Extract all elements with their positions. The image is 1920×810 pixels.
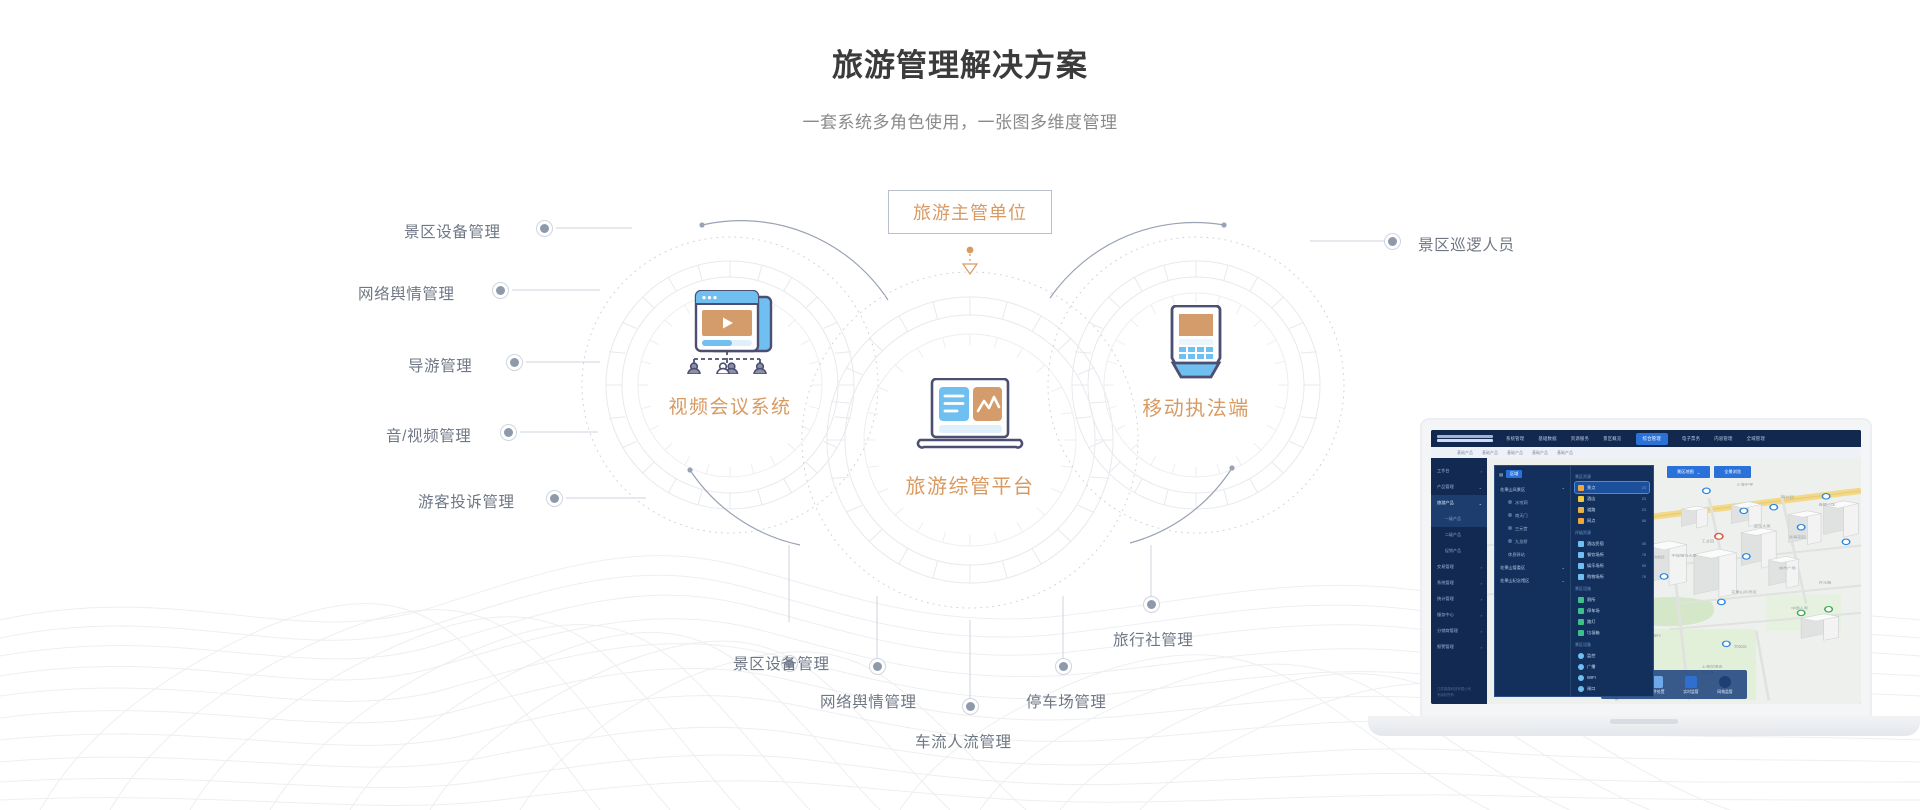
dashboard-tab-1[interactable]: 基础产品 (1482, 450, 1498, 456)
dashboard-main-area: 小海中学 南北园 春辉小区 蓝宝大厦 滨海花园 工业园 东风路科技园 中信银行大… (1487, 458, 1861, 704)
dashboard-tab-2[interactable]: 基础产品 (1507, 450, 1523, 456)
resource-item-1-1[interactable]: 餐饮场所 78 (1575, 549, 1649, 560)
sidebar-item-3[interactable]: 一级产品 (1431, 511, 1487, 527)
sidebar-item-2[interactable]: 旅游产品 ⌄ (1431, 495, 1487, 511)
svg-text:蓝宝大厦: 蓝宝大厦 (1754, 524, 1771, 528)
svg-text:小海中学: 小海中学 (1736, 482, 1753, 486)
grid-monitor-icon (1719, 676, 1731, 688)
resource-item-2-1[interactable]: 停车场 (1575, 605, 1649, 616)
authority-box[interactable]: 旅游主管单位 (888, 190, 1052, 234)
map-dock-item-3-label: 网格监管 (1717, 690, 1732, 694)
dashboard-sidebar[interactable]: 工作台 › 产品管理 ⌄ 旅游产品 ⌄ (1431, 458, 1487, 704)
resource-item-3-1[interactable]: 广播 (1575, 661, 1649, 672)
bullet-icon (1508, 526, 1512, 530)
region-tree-row-5-label: 休息驿站 (1508, 552, 1525, 558)
resource-item-1-2-label: 娱乐场所 (1587, 563, 1604, 569)
left-circle-rings (582, 221, 888, 545)
svg-text:工业园: 工业园 (1701, 538, 1714, 542)
sidebar-item-10[interactable]: 分销商管理 › (1431, 623, 1487, 639)
trash-bin-icon (1578, 630, 1584, 636)
resource-item-1-0-count: 45 (1642, 542, 1646, 546)
realtime-monitor-icon (1685, 676, 1697, 688)
svg-text:上海世博会: 上海世博会 (1701, 664, 1722, 668)
dashboard-tab-row[interactable]: 基础产品 基础产品 基础产品 基础产品 基础产品 (1431, 447, 1861, 458)
resource-item-1-1-count: 78 (1642, 553, 1646, 557)
map-view-chips[interactable]: 景区地图 ⌄ 全景浏览 (1667, 466, 1751, 478)
region-tree-row-1-label: 水帘洞 (1515, 500, 1528, 505)
sidebar-item-6[interactable]: 交易管理 › (1431, 559, 1487, 575)
region-tree-row-2[interactable]: 南天门 (1499, 509, 1566, 522)
chevron-right-icon: › (1481, 565, 1482, 570)
chevron-right-icon: › (1481, 629, 1482, 634)
spoke-dot-bottom-5[interactable] (1143, 596, 1160, 613)
sidebar-item-9[interactable]: 服务中心 › (1431, 607, 1487, 623)
chevron-right-icon: › (1481, 613, 1482, 618)
resource-panel: ▤ 区域 花果山风景区 ⌃ 水帘洞 (1494, 465, 1654, 697)
svg-text:开元路: 开元路 (1819, 580, 1832, 584)
spoke-label-bottom-1[interactable]: 景区设备管理 (733, 652, 830, 674)
resource-item-3-0[interactable]: 监控 (1575, 650, 1649, 661)
authority-label: 旅游主管单位 (913, 199, 1027, 225)
spoke-label-left-1[interactable]: 景区设备管理 (404, 220, 501, 242)
region-tree-row-5[interactable]: 休息驿站 (1499, 548, 1566, 561)
resource-item-0-3-count: 56 (1642, 519, 1646, 523)
resource-list[interactable]: 景区资源 景点 23 酒店 23 (1571, 466, 1653, 696)
scenic-spot-icon (1578, 485, 1584, 491)
region-tree-row-1[interactable]: 水帘洞 (1499, 496, 1566, 509)
bullet-icon (1508, 500, 1512, 504)
left-leader-lines (512, 228, 646, 498)
resource-item-0-3[interactable]: 网点 56 (1575, 515, 1649, 526)
region-tree-row-0-label: 花果山风景区 (1500, 487, 1525, 493)
authority-connector (963, 247, 977, 274)
network-node-icon (1578, 518, 1584, 524)
resource-item-2-1-label: 停车场 (1587, 608, 1600, 614)
chevron-down-icon[interactable]: ⌄ (1561, 565, 1565, 570)
dashboard-tab-4[interactable]: 基础产品 (1557, 450, 1573, 456)
dashboard-top-menu[interactable]: 系统管理 基础数据 资源服务 景区概览 综合管理 电子票务 内容管理 全域管理 (1506, 433, 1765, 445)
resource-item-1-3-count: 76 (1642, 575, 1646, 579)
hotel-icon (1578, 496, 1584, 502)
sidebar-item-0[interactable]: 工作台 › (1431, 463, 1487, 479)
top-menu-item-5[interactable]: 电子票务 (1682, 436, 1700, 442)
svg-text:滨海花园: 滨海花园 (1789, 535, 1806, 539)
chevron-down-icon: ⌄ (1697, 470, 1701, 475)
dashboard-topbar: 系统管理 基础数据 资源服务 景区概览 综合管理 电子票务 内容管理 全域管理 (1431, 430, 1861, 447)
laptop-mockup: 系统管理 基础数据 资源服务 景区概览 综合管理 电子票务 内容管理 全域管理 … (1368, 410, 1920, 810)
resource-group-2-title: 景区设施 (1575, 586, 1649, 592)
entertainment-icon (1578, 563, 1584, 569)
spoke-dot-bottom-4[interactable] (1055, 658, 1072, 675)
spoke-label-bottom-5[interactable]: 旅行社管理 (1113, 628, 1194, 650)
spoke-dot-right-1[interactable] (1384, 233, 1401, 250)
region-tree-row-7-label: 花果山纪念馆区 (1500, 578, 1529, 584)
road-icon (1578, 507, 1584, 513)
resource-item-3-2-label: WIFI (1587, 675, 1596, 680)
sidebar-item-3-label: 一级产品 (1445, 516, 1461, 522)
spoke-dot-left-3[interactable] (506, 354, 523, 371)
region-tree-row-4[interactable]: 九龙桥 (1499, 535, 1566, 548)
sidebar-item-8-label: 统计管理 (1437, 596, 1454, 602)
bullet-icon (1508, 513, 1512, 517)
dashboard-body: 工作台 › 产品管理 ⌄ 旅游产品 ⌄ (1431, 458, 1861, 704)
spoke-label-bottom-2[interactable]: 网络舆情管理 (820, 690, 917, 712)
chevron-right-icon: › (1481, 597, 1482, 602)
resource-item-0-1-label: 酒店 (1587, 496, 1595, 502)
region-tree-row-3-label: 三元宫 (1515, 526, 1528, 531)
svg-text:景区园: 景区园 (1734, 644, 1747, 648)
resource-item-3-0-label: 监控 (1587, 653, 1595, 659)
resource-item-3-3-label: 闸口 (1587, 686, 1595, 692)
resource-item-1-0-label: 酒店民宿 (1587, 541, 1604, 547)
region-tree-row-0[interactable]: 花果山风景区 ⌃ (1499, 483, 1566, 496)
map-dock-item-3[interactable]: 网格监管 (1713, 676, 1737, 695)
map-dock-item-2-label: 实时监管 (1683, 690, 1698, 694)
handheld-device-icon (1166, 305, 1226, 383)
spoke-dot-left-1[interactable] (536, 220, 553, 237)
svg-text:中国人寿: 中国人寿 (1791, 606, 1808, 610)
top-menu-item-3[interactable]: 景区概览 (1603, 436, 1621, 442)
sidebar-item-10-label: 分销商管理 (1437, 628, 1458, 634)
sidebar-item-7[interactable]: 系统管理 › (1431, 575, 1487, 591)
region-tree-row-2-label: 南天门 (1515, 513, 1528, 518)
laptop-base (1368, 716, 1920, 736)
top-menu-item-0[interactable]: 系统管理 (1506, 436, 1524, 442)
chevron-right-icon: › (1481, 581, 1482, 586)
laptop-screen: 系统管理 基础数据 资源服务 景区概览 综合管理 电子票务 内容管理 全域管理 … (1431, 430, 1861, 704)
sidebar-footer: 江苏鼎鼎科技有限公司 专版权所有 (1431, 683, 1487, 704)
resource-item-0-0-count: 23 (1642, 486, 1646, 490)
resource-item-1-3-label: 购物场所 (1587, 574, 1604, 580)
top-menu-item-1[interactable]: 基础数据 (1538, 436, 1556, 442)
spoke-dot-left-5[interactable] (546, 490, 563, 507)
mobile-enforcement-label: 移动执法端 (1106, 392, 1286, 421)
sidebar-footer-line-2: 专版权所有 (1437, 693, 1481, 699)
spoke-label-left-5[interactable]: 游客投诉管理 (418, 490, 515, 512)
resource-item-3-3[interactable]: 闸口 (1575, 683, 1649, 694)
resource-group-0-title: 景区资源 (1575, 474, 1649, 480)
map-chip-0[interactable]: 景区地图 ⌄ (1667, 466, 1710, 478)
resource-item-2-3[interactable]: 垃圾箱 (1575, 627, 1649, 638)
sidebar-item-11[interactable]: 报警管理 › (1431, 639, 1487, 655)
sidebar-item-4[interactable]: 二级产品 (1431, 527, 1487, 543)
sidebar-item-11-label: 报警管理 (1437, 644, 1454, 650)
spoke-label-right-1[interactable]: 景区巡逻人员 (1418, 233, 1515, 255)
resource-item-0-2-label: 道路 (1587, 507, 1595, 513)
sidebar-item-4-label: 二级产品 (1445, 532, 1461, 538)
map-chip-0-label: 景区地图 (1677, 469, 1694, 475)
resource-item-0-1[interactable]: 酒店 23 (1575, 493, 1649, 504)
resource-group-1-title: 评级资源 (1575, 530, 1649, 536)
spoke-label-left-2[interactable]: 网络舆情管理 (358, 282, 455, 304)
chevron-right-icon: › (1481, 469, 1482, 474)
chevron-right-icon: › (1481, 645, 1482, 650)
spoke-label-bottom-3[interactable]: 车流人流管理 (915, 730, 1012, 752)
resource-group-3-title: 景区设备 (1575, 642, 1649, 648)
spoke-dot-left-2[interactable] (492, 282, 509, 299)
solution-infographic-page: 旅游管理解决方案 一套系统多角色使用，一张图多维度管理 (0, 0, 1920, 810)
dashboard-tab-3[interactable]: 基础产品 (1532, 450, 1548, 456)
laptop-screen-bezel: 系统管理 基础数据 资源服务 景区概览 综合管理 电子票务 内容管理 全域管理 … (1420, 418, 1872, 718)
spoke-dot-bottom-2[interactable] (869, 658, 886, 675)
region-tree-row-6-label: 花果山管委区 (1500, 565, 1525, 571)
top-menu-item-7[interactable]: 全域管理 (1747, 436, 1765, 442)
region-tree-row-7[interactable]: 花果山纪念馆区 ⌄ (1499, 574, 1566, 587)
region-tree-row-6[interactable]: 花果山管委区 ⌄ (1499, 561, 1566, 574)
tourism-platform-label: 旅游综管平台 (855, 470, 1085, 499)
resource-item-2-2-label: 路灯 (1587, 619, 1595, 625)
dashboard-tab-0[interactable]: 基础产品 (1457, 450, 1473, 456)
grid-icon: ▤ (1499, 472, 1503, 477)
resource-item-0-2[interactable]: 道路 23 (1575, 504, 1649, 515)
region-tree-header: ▤ 区域 (1499, 470, 1566, 478)
shopping-icon (1578, 574, 1584, 580)
sidebar-item-0-label: 工作台 (1437, 468, 1450, 474)
parking-icon (1578, 608, 1584, 614)
chevron-up-icon[interactable]: ⌃ (1561, 487, 1565, 492)
resource-item-1-2[interactable]: 娱乐场所 95 (1575, 560, 1649, 571)
sidebar-item-2-label: 旅游产品 (1437, 500, 1454, 506)
sidebar-item-7-label: 系统管理 (1437, 580, 1454, 586)
resource-item-3-2[interactable]: WIFI (1575, 672, 1649, 683)
sidebar-item-1-label: 产品管理 (1437, 484, 1454, 490)
map-chip-1[interactable]: 全景浏览 (1714, 466, 1751, 478)
resource-item-2-0[interactable]: 厕所 (1575, 594, 1649, 605)
resource-item-0-1-count: 23 (1642, 497, 1646, 501)
resource-item-0-3-label: 网点 (1587, 518, 1595, 524)
chevron-down-icon[interactable]: ⌄ (1561, 578, 1565, 583)
spoke-dot-bottom-3[interactable] (962, 698, 979, 715)
resource-item-0-0[interactable]: 景点 23 (1575, 482, 1649, 493)
restaurant-icon (1578, 552, 1584, 558)
spoke-dot-left-4[interactable] (500, 424, 517, 441)
resource-item-1-1-label: 餐饮场所 (1587, 552, 1604, 558)
gate-icon (1578, 686, 1584, 692)
camera-icon (1578, 653, 1584, 659)
resource-item-0-0-label: 景点 (1587, 485, 1595, 491)
sidebar-item-6-label: 交易管理 (1437, 564, 1454, 570)
hotel-homestay-icon (1578, 541, 1584, 547)
top-menu-item-2[interactable]: 资源服务 (1571, 436, 1589, 442)
video-window-icon (683, 290, 777, 374)
resource-item-2-3-label: 垃圾箱 (1587, 630, 1600, 636)
region-tree-row-3[interactable]: 三元宫 (1499, 522, 1566, 535)
dashboard-mock: 系统管理 基础数据 资源服务 景区概览 综合管理 电子票务 内容管理 全域管理 … (1431, 430, 1861, 704)
resource-item-1-0[interactable]: 酒店民宿 45 (1575, 538, 1649, 549)
svg-text:花果山风景区: 花果山风景区 (1731, 590, 1757, 594)
sidebar-item-5[interactable]: 促销产品 (1431, 543, 1487, 559)
svg-text:中信银行大厦: 中信银行大厦 (1672, 553, 1698, 557)
sidebar-item-5-label: 促销产品 (1445, 548, 1461, 554)
spoke-label-left-3[interactable]: 导游管理 (408, 354, 472, 376)
chevron-down-icon: ⌄ (1479, 485, 1482, 490)
speaker-icon (1578, 664, 1584, 670)
svg-text:南北园: 南北园 (1781, 495, 1794, 499)
toilet-icon (1578, 597, 1584, 603)
wifi-icon (1578, 675, 1584, 681)
map-dock-item-2[interactable]: 实时监管 (1679, 676, 1703, 695)
spoke-label-left-4[interactable]: 音/视频管理 (386, 424, 471, 446)
bullet-icon (1508, 539, 1512, 543)
sidebar-item-9-label: 服务中心 (1437, 612, 1454, 618)
spoke-label-bottom-4[interactable]: 停车场管理 (1026, 690, 1107, 712)
top-menu-item-4-active[interactable]: 综合管理 (1636, 433, 1668, 445)
top-menu-item-6[interactable]: 内容管理 (1714, 436, 1732, 442)
svg-text:城市广场: 城市广场 (1779, 566, 1796, 570)
resource-item-2-2[interactable]: 路灯 (1575, 616, 1649, 627)
street-light-icon (1578, 619, 1584, 625)
resource-item-2-0-label: 厕所 (1587, 597, 1595, 603)
sidebar-item-8[interactable]: 统计管理 › (1431, 591, 1487, 607)
laptop-dashboard-icon (915, 378, 1025, 454)
platform-logo (1437, 435, 1493, 442)
resource-item-1-3[interactable]: 购物场所 76 (1575, 571, 1649, 582)
resource-item-0-2-count: 23 (1642, 508, 1646, 512)
resource-item-3-1-label: 广播 (1587, 664, 1595, 670)
video-conference-label: 视频会议系统 (630, 392, 830, 419)
region-tree-row-4-label: 九龙桥 (1515, 539, 1528, 544)
map-chip-1-label: 全景浏览 (1724, 469, 1741, 475)
region-tree-header-tag: 区域 (1506, 470, 1522, 478)
resource-item-1-2-count: 95 (1642, 564, 1646, 568)
sidebar-item-1[interactable]: 产品管理 ⌄ (1431, 479, 1487, 495)
svg-text:春辉小区: 春辉小区 (1819, 502, 1836, 506)
region-tree[interactable]: ▤ 区域 花果山风景区 ⌃ 水帘洞 (1495, 466, 1571, 696)
chevron-down-icon: ⌄ (1479, 501, 1482, 506)
